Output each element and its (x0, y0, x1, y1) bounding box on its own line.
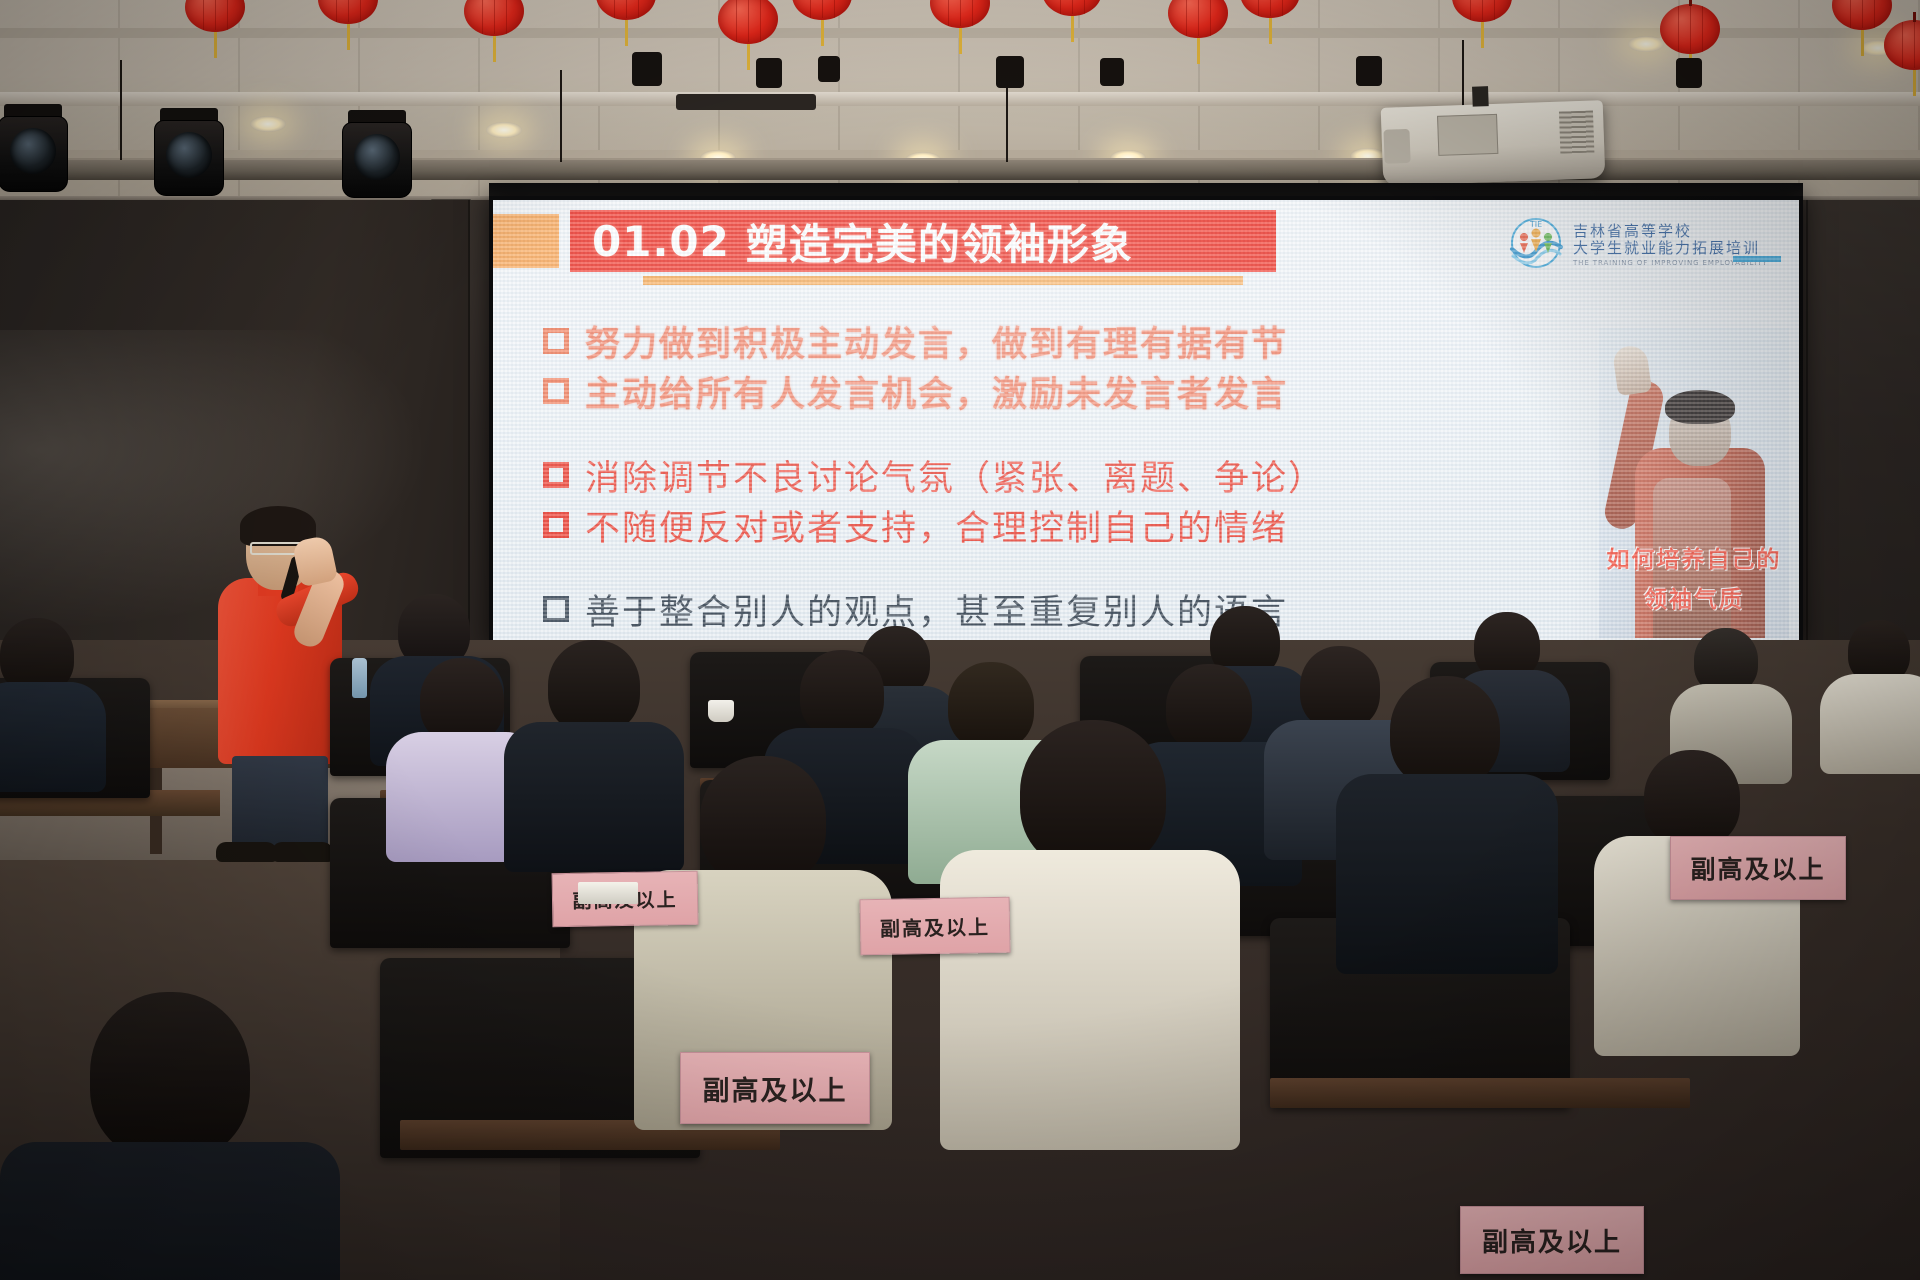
bullet-square-icon (543, 378, 569, 404)
stage-light (340, 110, 414, 206)
slide-title: 01.02 塑造完美的领袖形象 (570, 210, 1276, 272)
truss-spot (1100, 58, 1124, 86)
person-torso (940, 850, 1240, 1150)
statue-caption-line1: 如何培养自己的 (1599, 540, 1789, 574)
person-head (548, 640, 640, 734)
seat-sign: 副高及以上 (1460, 1206, 1644, 1274)
projector-lens-icon (1383, 129, 1410, 164)
paper-cup (708, 700, 734, 722)
person-head (700, 756, 826, 886)
svg-text:TIE: TIE (1529, 220, 1542, 229)
row-table (1270, 1078, 1690, 1108)
slide-bullet-list: 努力做到积极主动发言，做到有理有据有节 主动给所有人发言机会，激励未发言者发言 … (543, 316, 1613, 644)
projector-mount (1472, 86, 1489, 107)
person-head (90, 992, 250, 1160)
water-bottle (352, 658, 367, 698)
lighting-truss (0, 158, 1920, 180)
person-head (1390, 676, 1500, 788)
bullet-text: 不随便反对或者支持，合理控制自己的情绪 (585, 500, 1288, 551)
person-torso (504, 722, 684, 872)
person-head (1166, 664, 1252, 752)
title-orange-block (493, 214, 559, 268)
projector-panel (1437, 114, 1498, 156)
stage-light (152, 108, 226, 204)
ceiling-projector (1381, 100, 1606, 186)
ceiling-beam-middle (0, 92, 1920, 106)
title-underline (643, 276, 1243, 285)
truss-spot (632, 52, 662, 86)
ceiling-cable (120, 60, 122, 160)
statue-hair (1665, 390, 1735, 424)
bullet-text: 消除调节不良讨论气氛（紧张、离题、争论） (585, 450, 1325, 501)
logo-cn-line2: 大学生就业能力拓展培训 (1573, 240, 1768, 257)
tie-logo-icon: TIE (1507, 217, 1565, 273)
bullet-text: 主动给所有人发言机会，激励未发言者发言 (585, 366, 1288, 417)
bullet-item: 消除调节不良讨论气氛（紧张、离题、争论） (543, 450, 1613, 500)
person-torso (1820, 674, 1920, 774)
person-torso (0, 1142, 340, 1280)
slide-title-number: 01.02 (592, 217, 730, 266)
bullet-item: 努力做到积极主动发言，做到有理有据有节 (543, 316, 1613, 366)
lecture-hall-photo: 01.02 塑造完美的领袖形象 T (0, 0, 1920, 1280)
bullet-group-1: 努力做到积极主动发言，做到有理有据有节 主动给所有人发言机会，激励未发言者发言 (543, 316, 1613, 416)
bullet-item: 不随便反对或者支持，合理控制自己的情绪 (543, 500, 1613, 550)
statue-photo: 如何培养自己的 领袖气质 (1599, 328, 1789, 638)
person-head (800, 650, 884, 738)
bullet-item: 主动给所有人发言机会，激励未发言者发言 (543, 366, 1613, 416)
person-head (1300, 646, 1380, 730)
seat-sign-label: 副高及以上 (703, 1069, 848, 1108)
bullet-group-2: 消除调节不良讨论气氛（紧张、离题、争论） 不随便反对或者支持，合理控制自己的情绪 (543, 450, 1613, 550)
bullet-text: 努力做到积极主动发言，做到有理有据有节 (585, 316, 1288, 367)
person-torso (0, 682, 106, 792)
notebook (578, 882, 638, 904)
logo-accent-bar (1733, 256, 1781, 262)
slide-title-text: 塑造完美的领袖形象 (746, 211, 1133, 272)
seat-sign-label: 副高及以上 (1690, 850, 1825, 886)
seat-sign-label: 副高及以上 (1482, 1222, 1622, 1259)
person-head (948, 662, 1034, 750)
bullet-square-icon (543, 328, 569, 354)
truss-spot (1356, 56, 1382, 86)
seat-sign-label: 副高及以上 (880, 911, 990, 942)
person-torso (1336, 774, 1558, 974)
bullet-square-icon (543, 462, 569, 488)
truss-spot (1676, 58, 1702, 88)
projector-vent (1559, 110, 1594, 153)
seat-sign: 副高及以上 (1670, 836, 1846, 900)
stage-light (0, 104, 70, 200)
title-red-bar: 01.02 塑造完美的领袖形象 (570, 210, 1276, 272)
bullet-square-icon (543, 512, 569, 538)
truss-bracket (676, 94, 816, 110)
audience-area: 副高及以上 副高及以上 副高及以上 副高及以上 副高及以上 (0, 600, 1920, 1280)
ceiling-beam-lower (0, 150, 1920, 158)
projection-screen: 01.02 塑造完美的领袖形象 T (493, 200, 1799, 644)
person-head (1020, 720, 1166, 870)
logo-cn-line1: 吉林省高等学校 (1573, 223, 1768, 240)
red-lantern (1660, 4, 1720, 54)
seat-sign: 副高及以上 (860, 897, 1011, 956)
truss-spot (996, 56, 1024, 88)
ceiling-light (486, 122, 522, 138)
truss-spot (818, 56, 840, 82)
ceiling-light (1628, 36, 1664, 52)
ceiling-light (250, 116, 286, 132)
ceiling-cable (560, 70, 562, 162)
ceiling-cable (1462, 40, 1464, 110)
truss-spot (756, 58, 782, 88)
training-program-logo: TIE 吉林省高等学校 大学生就业能力拓展培训 THE TRAINING OF … (1507, 214, 1777, 276)
person-head (1644, 750, 1740, 848)
seat-sign: 副高及以上 (680, 1052, 870, 1124)
